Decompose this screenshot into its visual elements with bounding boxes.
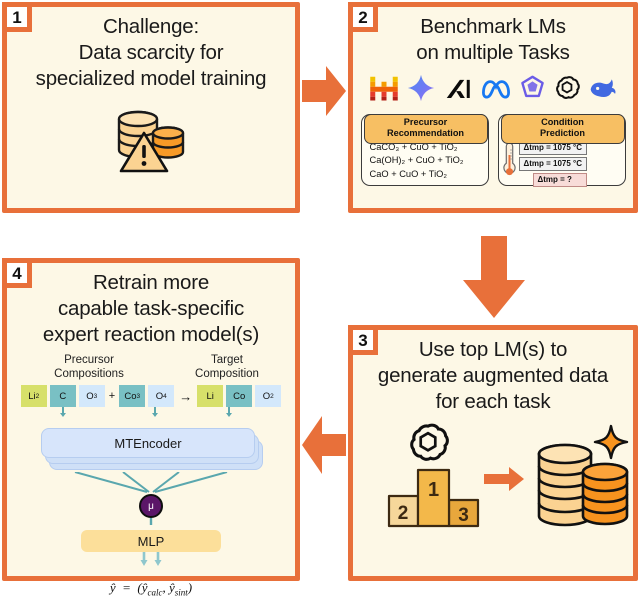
- mu-to-mlp-line: [7, 518, 295, 525]
- xai-logo: [443, 73, 473, 108]
- task-condition-header-line-2: Prediction: [502, 128, 624, 140]
- task-precursor-header-line-2: Recommendation: [365, 128, 487, 140]
- panel4-title: Retrain more capable task-specific exper…: [7, 270, 295, 347]
- mtencoder-layer-front: MTEncoder: [41, 428, 255, 458]
- formula-row: Ca(OH)₂ + CuO + TiO₂: [370, 154, 488, 167]
- panel-number-badge: 2: [348, 2, 378, 32]
- arch-labels: Precursor Compositions Target Compositio…: [7, 354, 295, 382]
- mu-node: μ: [139, 494, 163, 518]
- label-target-composition: Target Composition: [165, 354, 289, 382]
- mlp-block: MLP: [81, 530, 221, 552]
- chip-li2: Li2: [21, 385, 47, 407]
- panel1-title: Challenge: Data scarcity for specialized…: [7, 14, 295, 91]
- panel1-title-line-2: Data scarcity for: [7, 40, 295, 66]
- svg-text:2: 2: [398, 503, 409, 524]
- task-condition-header-line-1: Condition: [502, 117, 624, 129]
- arrow-p2-to-p3: [459, 234, 529, 327]
- task-card-precursor: Precursor Recommendation CaCO₃ + CuO + T…: [361, 114, 489, 186]
- mistral-logo: [369, 73, 399, 108]
- label-target-line-2: Composition: [165, 368, 289, 382]
- panel-number-badge: 1: [2, 2, 32, 32]
- panel-retrain: 4 Retrain more capable task-specific exp…: [2, 258, 300, 581]
- panel3-title-line-3: for each task: [353, 389, 633, 415]
- mtencoder-label: MTEncoder: [114, 436, 181, 451]
- benchmark-task-row: Precursor Recommendation CaCO₃ + CuO + T…: [353, 114, 633, 186]
- panel-number-badge: 3: [348, 325, 378, 355]
- panel4-title-line-3: expert reaction model(s): [7, 322, 295, 348]
- mu-label: μ: [148, 501, 154, 512]
- condition-query-chip: Δtmp = ?: [533, 173, 588, 187]
- panel3-graphics: 2 1 3: [353, 418, 633, 546]
- encoder-input-ticks: [7, 407, 295, 417]
- mlp-label: MLP: [138, 534, 165, 549]
- chip-o4: O4: [148, 385, 174, 407]
- panel3-title-line-2: generate augmented data: [353, 363, 633, 389]
- label-precursor-compositions: Precursor Compositions: [13, 354, 165, 382]
- panel-number-badge: 4: [2, 258, 32, 288]
- task-card-condition: Condition Prediction Δtm: [498, 114, 626, 186]
- svg-text:3: 3: [458, 505, 469, 526]
- svg-text:1: 1: [428, 479, 439, 501]
- arrow-p3-to-p4: [300, 412, 348, 483]
- architecture-diagram: Precursor Compositions Target Compositio…: [7, 354, 295, 597]
- right-arrow-icon: [483, 466, 525, 497]
- panel4-title-line-1: Retrain more: [7, 270, 295, 296]
- coin-stack-icon: [535, 420, 631, 537]
- panel2-title: Benchmark LMs on multiple Tasks: [353, 14, 633, 66]
- panel2-title-line-1: Benchmark LMs: [353, 14, 633, 40]
- meta-logo: [480, 73, 512, 108]
- gemini-logo: [406, 73, 436, 108]
- panel1-title-line-1: Challenge:: [7, 14, 295, 40]
- openai-logo: [553, 74, 581, 107]
- chip-co3: Co3: [119, 385, 145, 407]
- task-precursor-header-line-1: Precursor: [365, 117, 487, 129]
- condition-value-chip: Δtmp = 1075 °C: [519, 157, 588, 171]
- label-target-line-1: Target: [165, 354, 289, 368]
- chip-li: Li: [197, 385, 223, 407]
- chip-c: C: [50, 385, 76, 407]
- plus-symbol: +: [108, 390, 116, 402]
- deepseek-logo: [588, 74, 618, 107]
- chip-o3: O3: [79, 385, 105, 407]
- sparkle-icon: [595, 426, 627, 458]
- lm-logo-row: [353, 73, 633, 108]
- database-warning-icon: [7, 103, 295, 177]
- panel-augment: 3 Use top LM(s) to generate augmented da…: [348, 325, 638, 581]
- chip-co: Co: [226, 385, 252, 407]
- condition-values: Δtmp = 1075 °C Δtmp = 1075 °C Δtmp = ?: [519, 141, 588, 187]
- label-precursor-line-2: Compositions: [13, 368, 165, 382]
- precursor-formula-list: CaCO₃ + CuO + TiO₂ Ca(OH)₂ + CuO + TiO₂ …: [362, 141, 488, 181]
- qwen-logo: [519, 74, 546, 106]
- panel3-title: Use top LM(s) to generate augmented data…: [353, 337, 633, 414]
- label-precursor-line-1: Precursor: [13, 354, 165, 368]
- formula-row: CaO + CuO + TiO₂: [370, 168, 488, 181]
- task-condition-header: Condition Prediction: [501, 114, 625, 144]
- panel2-title-line-2: on multiple Tasks: [353, 40, 633, 66]
- podium-icon: 2 1 3: [387, 460, 485, 535]
- panel-challenge: 1 Challenge: Data scarcity for specializ…: [2, 2, 300, 213]
- mlp-output-arrows: [7, 552, 295, 566]
- panel1-title-line-3: specialized model training: [7, 66, 295, 92]
- thermometer-icon: [503, 141, 516, 186]
- mtencoder-stack: MTEncoder: [7, 428, 295, 472]
- panel-benchmark: 2 Benchmark LMs on multiple Tasks: [348, 2, 638, 213]
- composition-chip-row: Li2 C O3 + Co3 O4 → Li Co O2: [7, 385, 295, 407]
- panel3-title-line-1: Use top LM(s) to: [353, 337, 633, 363]
- reaction-arrow-icon: →: [177, 389, 194, 404]
- encoder-to-mu-lines: [7, 472, 295, 494]
- panel4-title-line-2: capable task-specific: [7, 296, 295, 322]
- chip-o2: O2: [255, 385, 281, 407]
- task-precursor-header: Precursor Recommendation: [364, 114, 488, 144]
- arrow-p1-to-p2: [300, 62, 348, 125]
